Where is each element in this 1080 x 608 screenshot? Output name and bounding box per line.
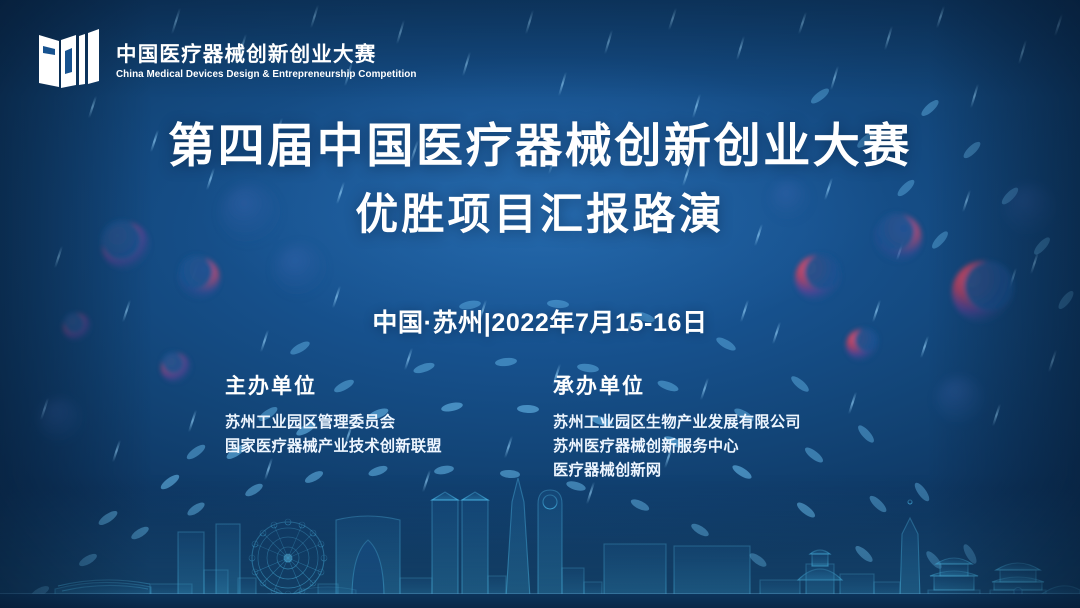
logo-english-name: China Medical Devices Design & Entrepren… [116,69,416,80]
coorganizer-heading: 承办单位 [553,370,863,400]
logo-text-group: 中国医疗器械创新创业大赛 China Medical Devices Desig… [116,40,426,80]
competition-logo-lockup[interactable]: 中国医疗器械创新创业大赛 China Medical Devices Desig… [36,26,426,94]
host-organizer-item: 苏州工业园区管理委员会 [225,411,535,435]
host-organizer-heading: 主办单位 [225,370,535,400]
coorganizer-item: 苏州工业园区生物产业发展有限公司 [553,411,863,435]
event-title-line1: 第四届中国医疗器械创新创业大赛 [0,122,1080,169]
event-title-line2: 优胜项目汇报路演 [0,194,1080,237]
organizers-section: 主办单位 苏州工业园区管理委员会 国家医疗器械产业技术创新联盟 承办单位 苏州工… [0,370,1080,483]
logo-chinese-name: 中国医疗器械创新创业大赛 [116,44,426,67]
date-location-line: 中国·苏州|2022年7月15-16日 [0,303,1080,339]
coorganizer-item: 医疗器械创新网 [553,459,863,483]
coorganizer-item: 苏州医疗器械创新服务中心 [553,435,863,459]
host-organizer-item: 国家医疗器械产业技术创新联盟 [225,435,535,459]
open-window-door-logo-icon [36,26,102,94]
host-organizer-column: 主办单位 苏州工业园区管理委员会 国家医疗器械产业技术创新联盟 [217,370,535,483]
coorganizer-column: 承办单位 苏州工业园区生物产业发展有限公司 苏州医疗器械创新服务中心 医疗器械创… [535,370,863,483]
title-block: 第四届中国医疗器械创新创业大赛 优胜项目汇报路演 [0,122,1080,237]
skyline-ground-strip [0,594,1080,608]
event-poster: 中国医疗器械创新创业大赛 China Medical Devices Desig… [0,0,1080,608]
